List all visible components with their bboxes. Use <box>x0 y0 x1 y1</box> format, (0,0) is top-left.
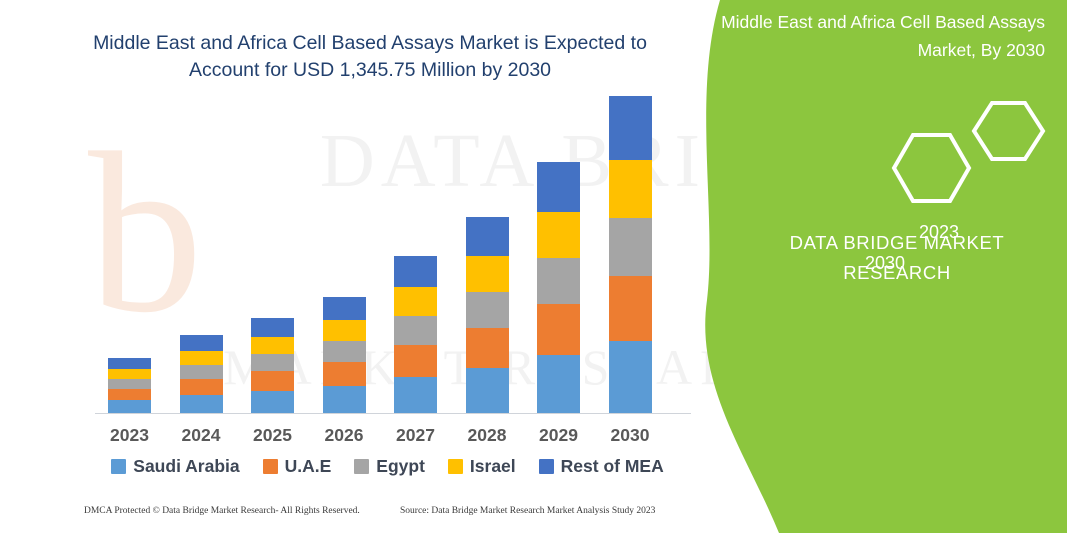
legend-item-u-a-e[interactable]: U.A.E <box>263 456 332 477</box>
bar-series-container <box>95 120 675 413</box>
brand-line-1: DATA BRIDGE MARKET <box>747 228 1047 258</box>
footer-source: Source: Data Bridge Market Research Mark… <box>400 506 655 516</box>
legend-item-egypt[interactable]: Egypt <box>354 456 425 477</box>
chart-title: Middle East and Africa Cell Based Assays… <box>60 30 680 84</box>
x-tick-2023: 2023 <box>95 425 165 446</box>
footer-copyright: DMCA Protected © Data Bridge Market Rese… <box>84 506 360 516</box>
bar-segment-israel-2024 <box>180 351 223 365</box>
brand-panel: Middle East and Africa Cell Based Assays… <box>687 0 1067 533</box>
legend-label: Saudi Arabia <box>133 456 239 477</box>
bar-segment-u-a-e-2028 <box>466 328 509 368</box>
infographic-root: b DATA BRIDGE MARKET RESEARCH Middle Eas… <box>0 0 1067 533</box>
bar-group-2023 <box>108 358 151 413</box>
bar-segment-israel-2027 <box>394 287 437 316</box>
x-tick-2030: 2030 <box>595 425 665 446</box>
bar-segment-israel-2029 <box>537 212 580 258</box>
bar-segment-saudi-arabia-2028 <box>466 368 509 413</box>
bar-segment-egypt-2027 <box>394 316 437 345</box>
bar-segment-egypt-2024 <box>180 365 223 379</box>
bar-segment-saudi-arabia-2025 <box>251 391 294 413</box>
bar-segment-rest-of-mea-2026 <box>323 297 366 320</box>
bar-group-2029 <box>537 162 580 413</box>
bar-segment-saudi-arabia-2023 <box>108 400 151 413</box>
hexagon-shapes <box>787 95 1067 210</box>
hexagon-group: 2023 2030 <box>787 95 1067 205</box>
bar-segment-saudi-arabia-2026 <box>323 386 366 413</box>
bar-group-2028 <box>466 217 509 413</box>
bar-segment-saudi-arabia-2027 <box>394 377 437 413</box>
bar-segment-egypt-2025 <box>251 354 294 371</box>
legend-label: Israel <box>470 456 516 477</box>
legend-item-israel[interactable]: Israel <box>448 456 516 477</box>
bar-segment-egypt-2026 <box>323 341 366 362</box>
x-tick-2025: 2025 <box>238 425 308 446</box>
bar-group-2030 <box>609 96 652 413</box>
brand-panel-title: Middle East and Africa Cell Based Assays… <box>707 8 1057 64</box>
bar-segment-egypt-2028 <box>466 292 509 328</box>
legend-swatch-icon <box>263 459 278 474</box>
x-tick-2026: 2026 <box>309 425 379 446</box>
x-tick-2028: 2028 <box>452 425 522 446</box>
bar-segment-israel-2026 <box>323 320 366 341</box>
bar-segment-rest-of-mea-2024 <box>180 335 223 351</box>
bar-segment-rest-of-mea-2028 <box>466 217 509 256</box>
bar-segment-israel-2023 <box>108 369 151 379</box>
brand-panel-content: Middle East and Africa Cell Based Assays… <box>687 0 1067 533</box>
bar-segment-rest-of-mea-2023 <box>108 358 151 369</box>
legend-swatch-icon <box>354 459 369 474</box>
bar-segment-u-a-e-2024 <box>180 379 223 395</box>
bar-segment-egypt-2029 <box>537 258 580 304</box>
bar-segment-egypt-2030 <box>609 218 652 276</box>
bar-segment-saudi-arabia-2024 <box>180 395 223 413</box>
bar-group-2024 <box>180 335 223 413</box>
legend-item-saudi-arabia[interactable]: Saudi Arabia <box>111 456 239 477</box>
bar-segment-rest-of-mea-2030 <box>609 96 652 160</box>
bar-group-2027 <box>394 256 437 413</box>
legend-swatch-icon <box>448 459 463 474</box>
bar-segment-israel-2025 <box>251 337 294 354</box>
hexagon-2030 <box>894 135 969 201</box>
bar-segment-u-a-e-2023 <box>108 389 151 400</box>
x-axis-line <box>95 413 691 414</box>
bar-segment-saudi-arabia-2029 <box>537 355 580 413</box>
bar-segment-u-a-e-2026 <box>323 362 366 386</box>
x-tick-2027: 2027 <box>381 425 451 446</box>
bar-segment-rest-of-mea-2025 <box>251 318 294 337</box>
brand-line-2: RESEARCH <box>747 258 1047 288</box>
chart-legend: Saudi ArabiaU.A.EEgyptIsraelRest of MEA <box>95 453 680 479</box>
bar-segment-u-a-e-2027 <box>394 345 437 377</box>
legend-swatch-icon <box>539 459 554 474</box>
bar-segment-egypt-2023 <box>108 379 151 389</box>
bar-segment-saudi-arabia-2030 <box>609 341 652 413</box>
bar-segment-u-a-e-2030 <box>609 276 652 341</box>
x-axis-labels: 20232024202520262027202820292030 <box>95 425 675 447</box>
bar-segment-u-a-e-2025 <box>251 371 294 391</box>
legend-label: Rest of MEA <box>561 456 664 477</box>
legend-label: U.A.E <box>285 456 332 477</box>
bar-segment-rest-of-mea-2027 <box>394 256 437 287</box>
x-tick-2029: 2029 <box>524 425 594 446</box>
legend-swatch-icon <box>111 459 126 474</box>
bar-segment-israel-2028 <box>466 256 509 292</box>
x-tick-2024: 2024 <box>166 425 236 446</box>
bar-segment-israel-2030 <box>609 160 652 218</box>
brand-name: DATA BRIDGE MARKET RESEARCH <box>747 228 1047 288</box>
bar-group-2025 <box>251 318 294 413</box>
bar-segment-u-a-e-2029 <box>537 304 580 355</box>
plot-area <box>95 120 675 413</box>
chart-panel: Middle East and Africa Cell Based Assays… <box>0 0 720 533</box>
legend-label: Egypt <box>376 456 425 477</box>
legend-item-rest-of-mea[interactable]: Rest of MEA <box>539 456 664 477</box>
hexagon-2023 <box>974 103 1043 159</box>
footer: DMCA Protected © Data Bridge Market Rese… <box>0 506 700 526</box>
bar-segment-rest-of-mea-2029 <box>537 162 580 212</box>
bar-group-2026 <box>323 297 366 413</box>
